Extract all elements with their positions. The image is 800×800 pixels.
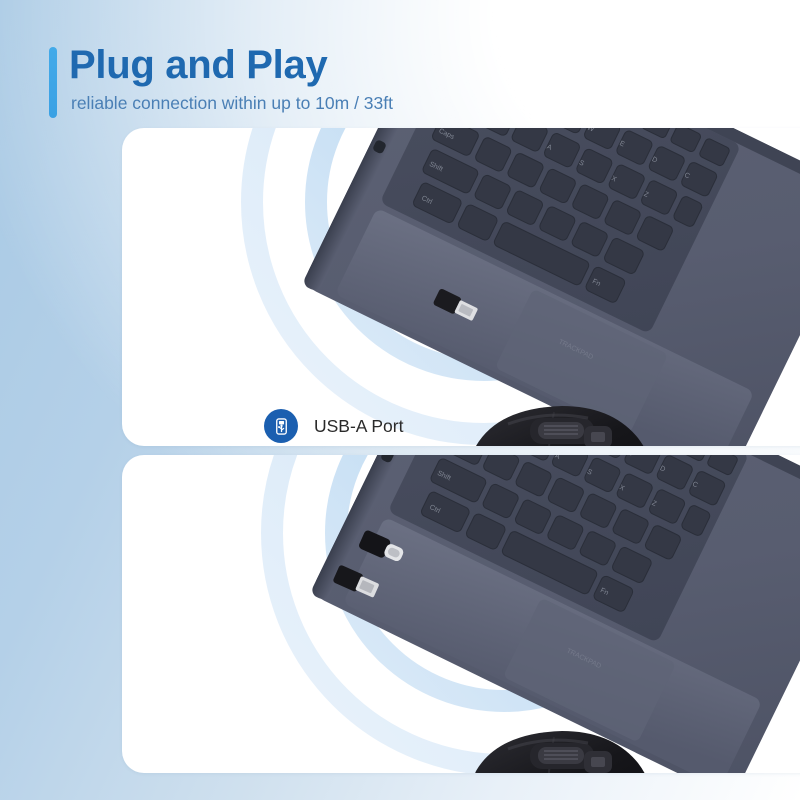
usb-nano-receiver [428,280,490,334]
badge-circle [264,409,298,443]
badge-label: USB-A Port [314,416,403,437]
usb-a-scene: Esc 1 2 Q W E D C A S X Z Tab [122,128,800,446]
page-title: Plug and Play [69,40,327,90]
wireless-mouse: ew [458,390,670,446]
usb-a-card: Esc 1 2 Q W E D C A S X Z Tab [122,128,800,446]
wireless-mouse: ew [458,715,670,773]
product-feature-banner: Plug and Play reliable connection within… [0,0,800,800]
accent-bar [49,47,57,118]
header: Plug and Play reliable connection within… [49,40,569,122]
usb-nano-receiver [326,555,398,613]
usb-plug-icon [272,417,291,436]
type-c-scene: Esc 1 2 Q W E D C A S X Z Tab [122,455,800,773]
type-c-card: Esc 1 2 Q W E D C A S X Z Tab [122,455,800,773]
page-subtitle: reliable connection within up to 10m / 3… [71,90,393,116]
badge-usb-a-port[interactable]: USB-A Port [264,409,403,443]
